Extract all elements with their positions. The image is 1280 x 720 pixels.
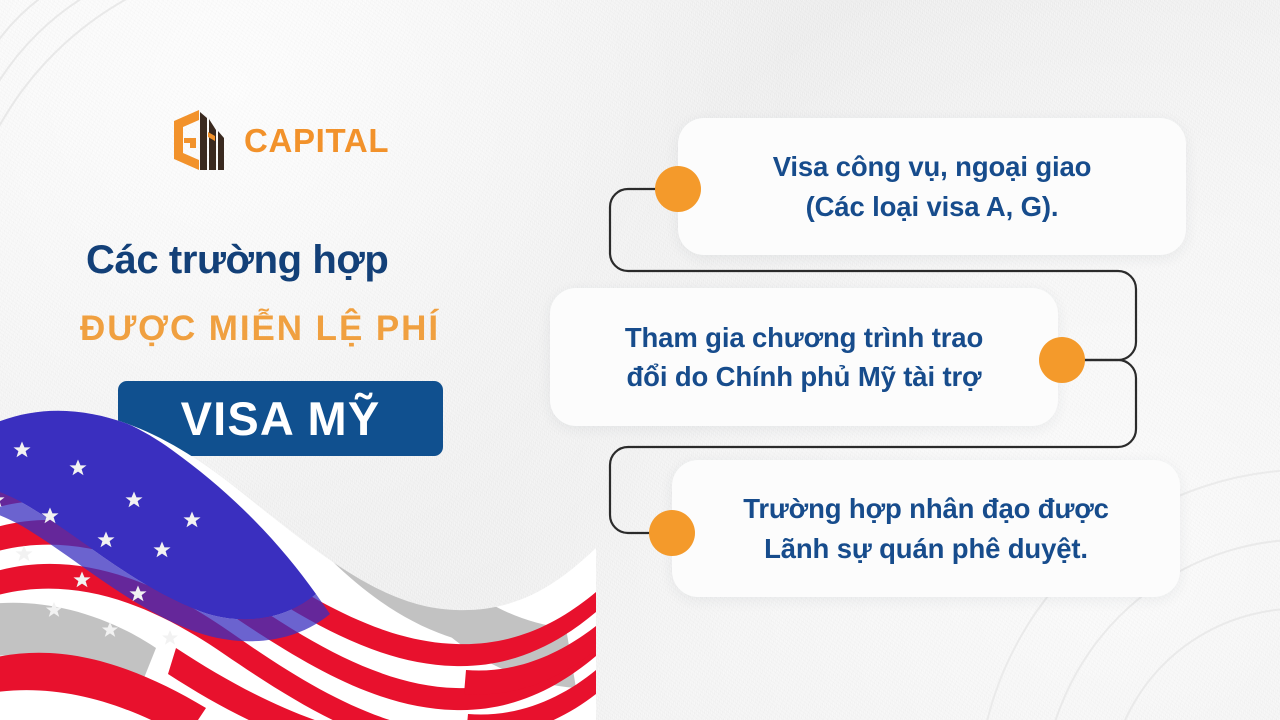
info-card-3[interactable]: Trường hợp nhân đạo được Lãnh sự quán ph…	[672, 460, 1180, 597]
info-card-1[interactable]: Visa công vụ, ngoại giao (Các loại visa …	[678, 118, 1186, 255]
brand-wordmark: CAPITAL	[244, 124, 389, 157]
infographic-canvas: CAPITAL Các trường hợp ĐƯỢC MIỄN LỆ PHÍ …	[0, 0, 1280, 720]
bullet-dot-3-icon	[649, 510, 695, 556]
bullet-dot-2-icon	[1039, 337, 1085, 383]
ga-building-logo-icon	[168, 108, 230, 172]
info-card-3-text: Trường hợp nhân đạo được Lãnh sự quán ph…	[743, 489, 1109, 567]
headline-line-2: ĐƯỢC MIỄN LỆ PHÍ	[80, 310, 520, 349]
usa-waving-flag-icon	[0, 398, 606, 720]
brand-logo: CAPITAL	[168, 108, 389, 172]
info-card-2[interactable]: Tham gia chương trình trao đổi do Chính …	[550, 288, 1058, 426]
bullet-dot-1-icon	[655, 166, 701, 212]
info-card-2-text: Tham gia chương trình trao đổi do Chính …	[625, 318, 983, 396]
info-card-1-text: Visa công vụ, ngoại giao (Các loại visa …	[773, 147, 1092, 225]
headline-line-1: Các trường hợp	[86, 238, 516, 283]
